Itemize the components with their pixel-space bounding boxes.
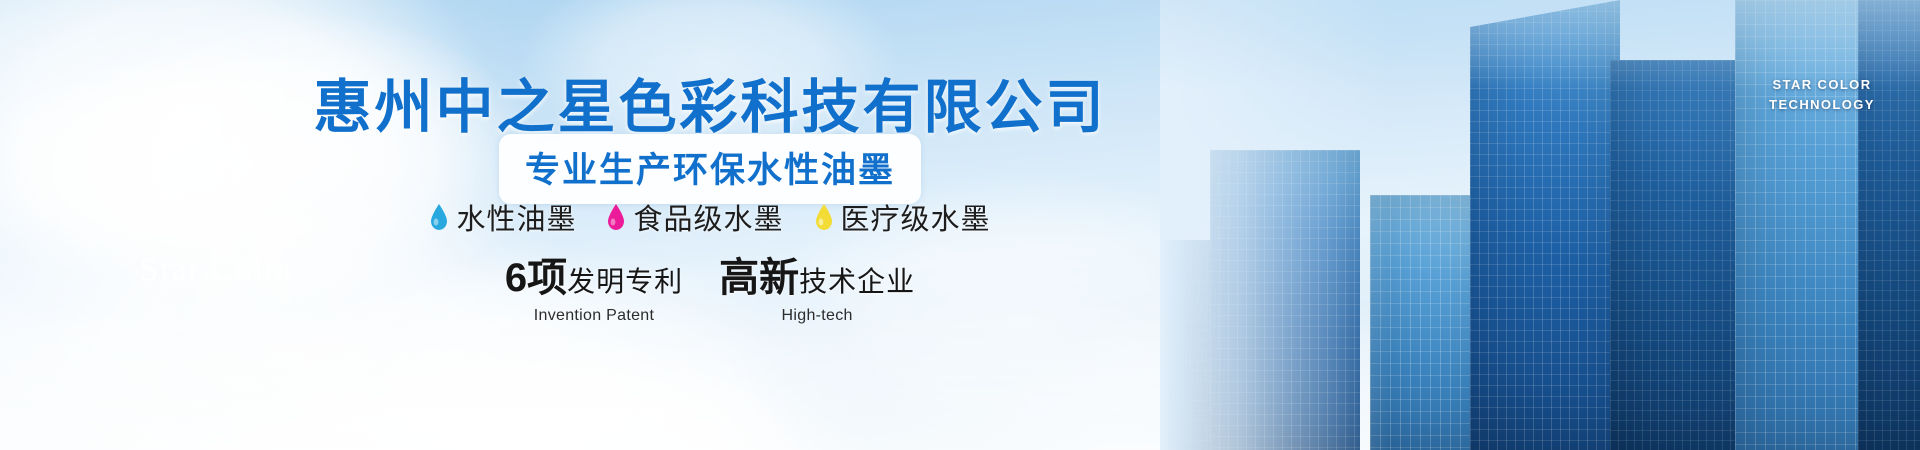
- banner-content: 惠州中之星色彩科技有限公司 专业生产环保水性油墨 水性油墨 食品级水墨: [0, 0, 1420, 450]
- feature-item: 医疗级水墨: [814, 196, 991, 238]
- credential-item: 高新技术企业 High-tech: [719, 258, 915, 325]
- logo-line-1: STAR COLOR: [1752, 75, 1892, 95]
- credential-english: Invention Patent: [505, 307, 683, 325]
- logo-line-2: TECHNOLOGY: [1752, 95, 1892, 115]
- credential-item: 6项发明专利 Invention Patent: [505, 258, 683, 325]
- building-c: [1610, 60, 1750, 450]
- water-drop-icon: [606, 203, 626, 231]
- company-title: 惠州中之星色彩科技有限公司: [0, 60, 1420, 144]
- credential-main: 6项发明专利: [505, 258, 683, 298]
- feature-label: 医疗级水墨: [841, 196, 991, 238]
- credential-highlight: 高新: [719, 256, 799, 300]
- feature-item: 食品级水墨: [606, 196, 783, 238]
- water-drop-icon: [429, 203, 449, 231]
- feature-label: 水性油墨: [456, 196, 576, 238]
- credential-main: 高新技术企业: [719, 258, 915, 298]
- feature-label: 食品级水墨: [633, 196, 783, 238]
- promo-banner: Star Color STAR COLOR TECHNOLOGY 惠州中之星色彩…: [0, 0, 1920, 450]
- feature-list: 水性油墨 食品级水墨 医疗级水墨: [0, 196, 1420, 238]
- water-drop-icon: [814, 203, 834, 231]
- feature-item: 水性油墨: [429, 196, 576, 238]
- subtitle-badge: 专业生产环保水性油墨: [499, 134, 921, 204]
- credential-rest: 技术企业: [799, 266, 915, 297]
- credentials-row: 6项发明专利 Invention Patent 高新技术企业 High-tech: [0, 258, 1420, 325]
- brand-logo-text: STAR COLOR TECHNOLOGY: [1752, 75, 1892, 115]
- credential-english: High-tech: [719, 307, 915, 325]
- credential-rest: 发明专利: [567, 266, 683, 297]
- credential-highlight: 6项: [505, 256, 567, 300]
- subtitle-badge-wrap: 专业生产环保水性油墨: [0, 134, 1420, 204]
